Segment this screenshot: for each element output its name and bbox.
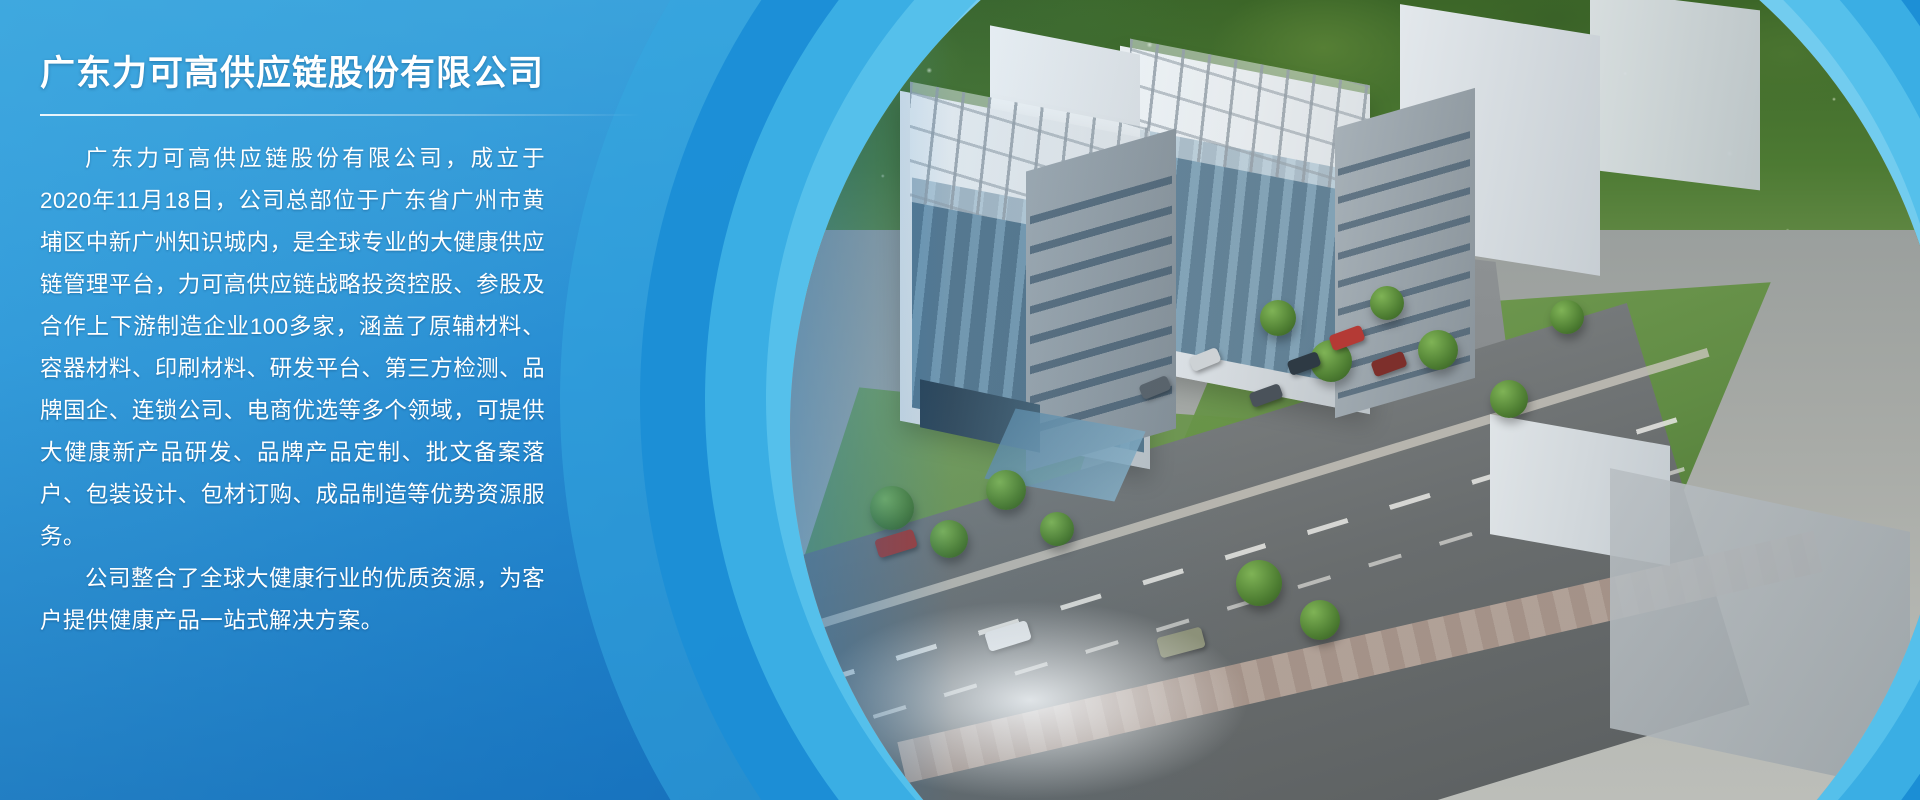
about-text: 广东力可高供应链股份有限公司，成立于2020年11月18日，公司总部位于广东省广… [40,138,545,642]
text-column: 广东力可高供应链股份有限公司 广东力可高供应链股份有限公司，成立于2020年11… [0,0,680,800]
campus-photo-frame [790,0,1920,800]
about-paragraph-2: 公司整合了全球大健康行业的优质资源，为客户提供健康产品一站式解决方案。 [40,558,545,642]
campus-photo-disc [790,0,1920,800]
profile-banner: 广东力可高供应链股份有限公司 广东力可高供应链股份有限公司，成立于2020年11… [0,0,1920,800]
photo-blue-blend [790,0,1920,800]
about-paragraph-1: 广东力可高供应链股份有限公司，成立于2020年11月18日，公司总部位于广东省广… [40,138,545,558]
campus-aerial-photo [790,0,1920,800]
page-title: 广东力可高供应链股份有限公司 [40,52,680,96]
title-divider [40,114,640,116]
